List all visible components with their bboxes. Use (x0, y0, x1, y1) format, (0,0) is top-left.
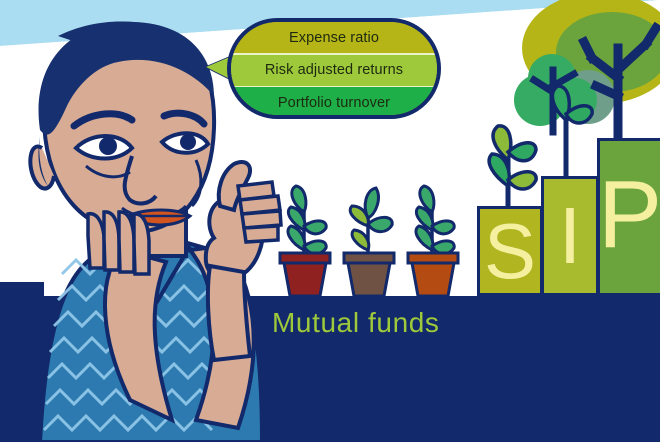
speech-bubble: Expense ratio Risk adjusted returns Port… (227, 18, 441, 119)
supporting-fingers (88, 212, 149, 274)
sip-bar-p: P (597, 138, 660, 296)
bubble-row-expense-ratio: Expense ratio (231, 22, 437, 53)
caption-mutual-funds: Mutual funds (272, 307, 440, 339)
potted-plant-2 (344, 188, 394, 296)
eye-right (162, 133, 208, 153)
sip-bar-s-letter: S (484, 220, 536, 282)
sip-bar-p-letter: P (598, 177, 660, 254)
sprout-on-bar-s (489, 126, 536, 206)
sip-bar-i-letter: I (559, 204, 581, 268)
eye-left (76, 136, 132, 159)
raised-hand (206, 162, 281, 360)
potted-plant-3 (408, 186, 458, 296)
potted-plant-1 (280, 186, 330, 296)
bubble-row-risk-adjusted-returns: Risk adjusted returns (231, 55, 437, 86)
sip-bar-s: S (477, 206, 543, 296)
sip-bar-i: I (541, 176, 599, 296)
bubble-row-portfolio-turnover: Portfolio turnover (231, 87, 437, 118)
illustration-canvas: S I P Expense ratio Risk adjusted return… (0, 0, 660, 442)
